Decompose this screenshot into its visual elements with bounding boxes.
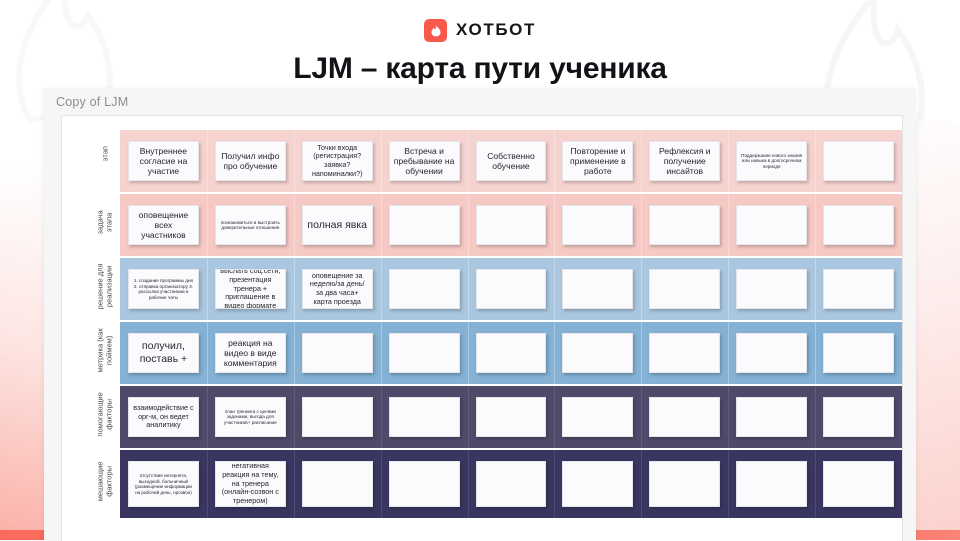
- board-cell-text: [682, 351, 688, 355]
- board-cell[interactable]: [476, 461, 547, 507]
- row-label-text: этап: [100, 127, 109, 181]
- board-cell-text: [508, 351, 514, 355]
- board-cell-text: [769, 482, 775, 486]
- board-cell-text: полная явка: [304, 217, 370, 234]
- board-cell[interactable]: [562, 333, 633, 373]
- board-cell[interactable]: [823, 333, 894, 373]
- column-separator: [468, 322, 469, 384]
- row-label-6: мешающиефакторы: [78, 472, 132, 496]
- board-cell[interactable]: план тренинга с целями задачами, выгода …: [215, 397, 286, 437]
- column-separator: [728, 194, 729, 256]
- column-separator: [641, 450, 642, 518]
- row-label-2: задачаэтапа: [78, 213, 132, 237]
- board-cell-text: Встреча и пребывание на обучении: [390, 144, 459, 179]
- board-cell-text: [682, 482, 688, 486]
- column-separator: [468, 450, 469, 518]
- column-separator: [554, 322, 555, 384]
- column-separator: [815, 130, 816, 192]
- board-cell-text: 1. создание программы дня 2. отправка ор…: [129, 276, 198, 302]
- board-cell-text: Поддержание нового знания или навыка в д…: [737, 151, 806, 172]
- column-separator: [207, 386, 208, 448]
- board-cell-text: получил, поставь +: [129, 338, 198, 367]
- board-cell[interactable]: [649, 461, 720, 507]
- column-separator: [728, 386, 729, 448]
- board-cell-text: [769, 287, 775, 291]
- column-separator: [641, 194, 642, 256]
- board-cell-text: [595, 351, 601, 355]
- board-cell[interactable]: [823, 205, 894, 245]
- board-cell[interactable]: [649, 205, 720, 245]
- board-cell-text: Внутреннее согласие на участие: [129, 144, 198, 179]
- column-separator: [381, 386, 382, 448]
- board-cell[interactable]: [389, 205, 460, 245]
- board-cell-text: [769, 223, 775, 227]
- board-cell-text: [421, 415, 427, 419]
- board-cell-text: негативная реакция на тему, на тренера (…: [216, 461, 285, 507]
- board-cell[interactable]: оповещение за неделю/за день/ за два час…: [302, 269, 373, 309]
- brand-logo: ХОТБОТ: [0, 16, 960, 44]
- board-cell-text: Рефлексия и получение инсайтов: [650, 144, 719, 179]
- board-cell[interactable]: [823, 397, 894, 437]
- board-cell-text: познакомиться и выстроить доверительные …: [216, 218, 285, 233]
- board-cell[interactable]: [649, 397, 720, 437]
- board-cell[interactable]: Собственно обучение: [476, 141, 547, 181]
- board-cell[interactable]: Внутреннее согласие на участие: [128, 141, 199, 181]
- board-cell-text: [856, 287, 862, 291]
- board-cell-text: [595, 287, 601, 291]
- column-separator: [815, 258, 816, 320]
- board-cell-text: [856, 415, 862, 419]
- board-cell[interactable]: отсутствие интернета, выходной, больничн…: [128, 461, 199, 507]
- board-cell[interactable]: Встреча и пребывание на обучении: [389, 141, 460, 181]
- board-cell[interactable]: [389, 397, 460, 437]
- board-cell[interactable]: 1. создание программы дня 2. отправка ор…: [128, 269, 199, 309]
- board-cell[interactable]: [389, 461, 460, 507]
- column-separator: [554, 450, 555, 518]
- board-cell[interactable]: [823, 269, 894, 309]
- column-separator: [815, 450, 816, 518]
- board-cell-text: Повторение и применение в работе: [563, 144, 632, 179]
- column-separator: [294, 258, 295, 320]
- board-cell-text: [769, 415, 775, 419]
- board-cell[interactable]: [389, 333, 460, 373]
- board-cell-text: [682, 415, 688, 419]
- column-separator: [728, 450, 729, 518]
- board-cell-text: [769, 351, 775, 355]
- row-label-1: этап: [78, 149, 132, 173]
- board-cell-text: Получил инфо про обучение: [216, 149, 285, 174]
- board-cell-text: [421, 223, 427, 227]
- ljm-grid: этапВнутреннее согласие на участиеПолучи…: [62, 116, 902, 541]
- board-cell-text: взаимодействие с орг-м, он ведет аналити…: [129, 402, 198, 432]
- slide-card: Copy of LJM этапВнутреннее согласие на у…: [44, 88, 916, 540]
- board-cell-text: [595, 482, 601, 486]
- document-title: Copy of LJM: [56, 95, 128, 109]
- board-cell[interactable]: [649, 269, 720, 309]
- board-cell[interactable]: [476, 333, 547, 373]
- board-cell[interactable]: [736, 205, 807, 245]
- board-cell-text: выслать соц.сети, презентация тренера + …: [216, 269, 285, 309]
- column-separator: [641, 322, 642, 384]
- board-cell-text: [421, 482, 427, 486]
- column-separator: [207, 450, 208, 518]
- board-cell[interactable]: [476, 397, 547, 437]
- column-separator: [294, 130, 295, 192]
- board-cell[interactable]: Точки входа (регистрация? заявка? напоми…: [302, 141, 373, 181]
- board-cell[interactable]: полная явка: [302, 205, 373, 245]
- column-separator: [468, 130, 469, 192]
- column-separator: [294, 386, 295, 448]
- flame-icon: [424, 19, 447, 42]
- board-cell[interactable]: [823, 461, 894, 507]
- board-cell[interactable]: [736, 269, 807, 309]
- column-separator: [294, 450, 295, 518]
- column-separator: [381, 130, 382, 192]
- board-cell[interactable]: [302, 397, 373, 437]
- board-cell-text: [334, 415, 340, 419]
- board-cell-text: оповещение всех участников: [129, 208, 198, 243]
- column-separator: [207, 322, 208, 384]
- column-separator: [381, 258, 382, 320]
- brand-name: ХОТБОТ: [456, 20, 536, 40]
- column-separator: [381, 450, 382, 518]
- board-cell-text: [334, 482, 340, 486]
- board-cell[interactable]: [389, 269, 460, 309]
- board-cell-text: Собственно обучение: [477, 149, 546, 174]
- column-separator: [381, 322, 382, 384]
- board-cell[interactable]: Повторение и применение в работе: [562, 141, 633, 181]
- board-cell-text: оповещение за неделю/за день/ за два час…: [303, 270, 372, 309]
- board-cell-text: [682, 223, 688, 227]
- board-cell[interactable]: взаимодействие с орг-м, он ведет аналити…: [128, 397, 199, 437]
- board-cell-text: [508, 415, 514, 419]
- column-separator: [554, 130, 555, 192]
- column-separator: [294, 322, 295, 384]
- board-cell-text: план тренинга с целями задачами, выгода …: [216, 407, 285, 428]
- column-separator: [728, 130, 729, 192]
- column-separator: [207, 258, 208, 320]
- page-title: LJM – карта пути ученика: [0, 52, 960, 86]
- board-cell[interactable]: [736, 333, 807, 373]
- column-separator: [468, 258, 469, 320]
- board-cell[interactable]: оповещение всех участников: [128, 205, 199, 245]
- board-cell[interactable]: Поддержание нового знания или навыка в д…: [736, 141, 807, 181]
- board-cell[interactable]: познакомиться и выстроить доверительные …: [215, 205, 286, 245]
- board-cell-text: [421, 287, 427, 291]
- column-separator: [554, 258, 555, 320]
- board-cell-text: реакция на видео в виде комментария: [216, 336, 285, 371]
- row-label-5: помогающиефакторы: [78, 405, 132, 429]
- board-cell-text: Точки входа (регистрация? заявка? напоми…: [303, 142, 372, 181]
- board-cell[interactable]: выслать соц.сети, презентация тренера + …: [215, 269, 286, 309]
- board-cell[interactable]: [736, 461, 807, 507]
- row-label-text: метрика (какпоймем): [96, 323, 115, 377]
- column-separator: [815, 194, 816, 256]
- board-cell[interactable]: [476, 205, 547, 245]
- column-separator: [381, 194, 382, 256]
- board-sheet[interactable]: этапВнутреннее согласие на участиеПолучи…: [61, 115, 903, 541]
- row-label-3: решение дляреализации: [78, 277, 132, 301]
- row-label-text: помогающиефакторы: [96, 387, 115, 441]
- board-cell[interactable]: [476, 269, 547, 309]
- board-cell[interactable]: [649, 333, 720, 373]
- board-cell-text: [508, 482, 514, 486]
- board-cell[interactable]: негативная реакция на тему, на тренера (…: [215, 461, 286, 507]
- board-cell-text: [856, 159, 862, 163]
- column-separator: [468, 194, 469, 256]
- column-separator: [207, 194, 208, 256]
- board-cell-text: [595, 223, 601, 227]
- board-cell-text: [508, 287, 514, 291]
- column-separator: [815, 322, 816, 384]
- board-cell-text: [856, 351, 862, 355]
- board-cell[interactable]: реакция на видео в виде комментария: [215, 333, 286, 373]
- board-cell-text: [856, 223, 862, 227]
- column-separator: [294, 194, 295, 256]
- row-label-4: метрика (какпоймем): [78, 341, 132, 365]
- board-cell-text: [421, 351, 427, 355]
- board-cell-text: [508, 223, 514, 227]
- board-cell[interactable]: [302, 461, 373, 507]
- board-cell[interactable]: [302, 333, 373, 373]
- board-cell-text: [856, 482, 862, 486]
- column-separator: [728, 258, 729, 320]
- board-cell-text: отсутствие интернета, выходной, больничн…: [129, 471, 198, 497]
- board-cell-text: [682, 287, 688, 291]
- board-cell-text: [334, 351, 340, 355]
- column-separator: [207, 130, 208, 192]
- row-label-text: решение дляреализации: [96, 259, 115, 313]
- row-label-text: мешающиефакторы: [96, 454, 115, 508]
- column-separator: [641, 130, 642, 192]
- board-cell-text: [595, 415, 601, 419]
- row-label-text: задачаэтапа: [96, 195, 115, 249]
- board-cell[interactable]: [562, 461, 633, 507]
- board-cell[interactable]: [562, 397, 633, 437]
- board-cell[interactable]: Получил инфо про обучение: [215, 141, 286, 181]
- board-cell[interactable]: Рефлексия и получение инсайтов: [649, 141, 720, 181]
- board-cell[interactable]: [562, 205, 633, 245]
- board-cell[interactable]: [823, 141, 894, 181]
- board-cell[interactable]: получил, поставь +: [128, 333, 199, 373]
- board-cell[interactable]: [562, 269, 633, 309]
- column-separator: [554, 386, 555, 448]
- column-separator: [554, 194, 555, 256]
- board-cell[interactable]: [736, 397, 807, 437]
- column-separator: [468, 386, 469, 448]
- column-separator: [641, 258, 642, 320]
- column-separator: [728, 322, 729, 384]
- column-separator: [641, 386, 642, 448]
- column-separator: [815, 386, 816, 448]
